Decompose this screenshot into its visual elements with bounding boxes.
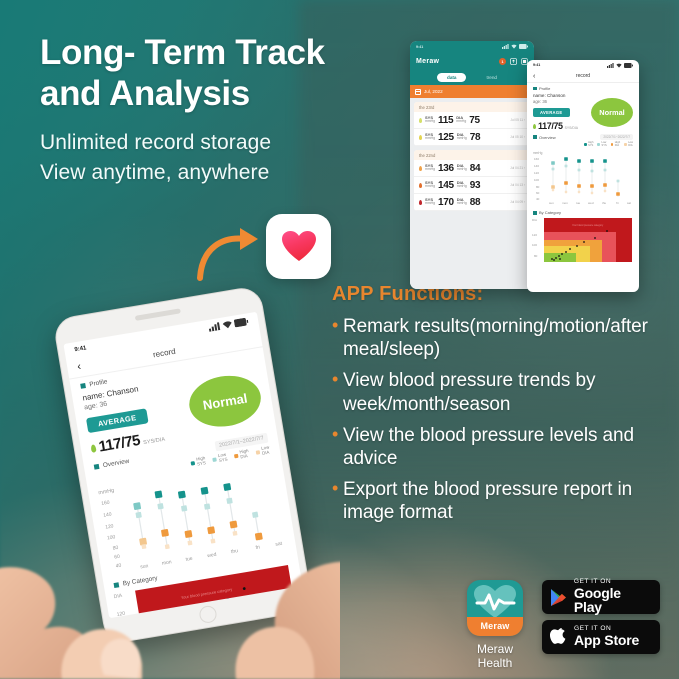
day-label: the 22nd xyxy=(414,150,530,160)
sys-label: SYSmmHg xyxy=(425,116,435,124)
svg-text:fri: fri xyxy=(616,201,619,205)
meraw-app-icon[interactable]: Meraw xyxy=(467,580,523,636)
table-row[interactable]: SYSmmHg 170 DIAmmHg 88 Jul 04 09 › xyxy=(414,194,530,211)
records-group: the 22nd SYSmmHg 136 DIAmmHg 84 Jul 04 2… xyxy=(414,150,530,211)
app-icon-label: Meraw xyxy=(480,621,509,631)
bullet-icon: • xyxy=(332,424,343,470)
bullet-icon: • xyxy=(332,369,343,415)
record-timestamp: Jul 04 09 › xyxy=(510,200,525,204)
tab-trend[interactable]: trend xyxy=(476,73,506,82)
badge-big-label: App Store xyxy=(574,633,639,648)
profile-details: name: Chanson age: 36 AVERAGE 117/75 SYS… xyxy=(533,93,591,131)
svg-text:tue: tue xyxy=(576,201,581,205)
svg-text:tue: tue xyxy=(185,556,193,563)
status-badge: Normal xyxy=(185,371,264,432)
dia-value: 93 xyxy=(470,180,481,191)
svg-text:40: 40 xyxy=(115,563,122,570)
patient-name: name: Chanson xyxy=(533,93,591,98)
sys-value: 170 xyxy=(438,197,454,208)
table-row[interactable]: SYSmmHg 145 DIAmmHg 93 Jul 04 13 › xyxy=(414,177,530,194)
svg-text:100: 100 xyxy=(534,178,539,182)
calendar-icon xyxy=(415,89,421,95)
dia-value: 88 xyxy=(470,197,481,208)
section-marker-icon xyxy=(533,211,537,215)
svg-text:60: 60 xyxy=(536,191,540,195)
chart-points xyxy=(551,158,620,198)
bp-unit: SYS/DIA xyxy=(565,126,578,130)
sys-value: 145 xyxy=(438,180,454,191)
status-indicators xyxy=(502,44,528,49)
records-list[interactable]: the 23rd SYSmmHg 115 DIAmmHg 75 Jul 05 1… xyxy=(410,98,534,289)
dia-label: DIAmmHg xyxy=(457,164,467,172)
section-header-overview: Overview 2022/7/1~2022/7/7 xyxy=(527,131,639,140)
function-list-item: • Export the blood pressure report in im… xyxy=(332,478,662,524)
app-brand-label: Meraw xyxy=(416,58,439,65)
section-marker-icon xyxy=(533,87,537,91)
wifi-icon xyxy=(511,44,517,49)
svg-text:mon: mon xyxy=(162,559,173,567)
svg-text:80: 80 xyxy=(536,185,540,189)
curved-arrow-icon xyxy=(196,222,266,282)
google-play-text: GET IT ON Google Play xyxy=(574,579,652,615)
status-time: 9:41 xyxy=(416,45,423,49)
section-marker-icon xyxy=(533,135,537,139)
table-row[interactable]: SYSmmHg 125 DIAmmHg 78 Jul 05 10 › xyxy=(414,129,530,146)
month-selector-left: Jul, 2022 xyxy=(415,89,443,95)
month-selector-bar[interactable]: Jul, 2022 ▾ xyxy=(410,85,534,98)
footer-badges: Meraw Meraw Health GET IT ON Google Play… xyxy=(462,578,672,668)
section-title: Profile xyxy=(539,86,550,91)
svg-text:fri: fri xyxy=(255,545,260,552)
app-bar: Meraw 1 xyxy=(410,52,534,71)
svg-text:80: 80 xyxy=(534,254,538,258)
level-indicator-icon xyxy=(419,118,422,123)
records-group: the 23rd SYSmmHg 115 DIAmmHg 75 Jul 05 1… xyxy=(414,102,530,146)
category-chart: DIA 120 100 80 Your blood pressure categ… xyxy=(527,215,639,263)
svg-text:60: 60 xyxy=(114,554,121,561)
nav-bar: ‹ record xyxy=(527,70,639,83)
function-list-item: • View blood pressure trends by week/mon… xyxy=(332,369,662,415)
signal-icon xyxy=(208,322,221,332)
status-indicators xyxy=(607,63,633,68)
average-badge: AVERAGE xyxy=(533,108,570,117)
svg-text:sun: sun xyxy=(140,563,149,570)
battery-icon xyxy=(234,317,249,327)
svg-text:160: 160 xyxy=(101,500,110,507)
phone-screenshot-data-list: 9:41 Meraw 1 xyxy=(410,41,534,289)
level-indicator-icon xyxy=(419,135,422,140)
signal-icon xyxy=(502,44,509,49)
sys-label: SYSmmHg xyxy=(425,164,435,172)
chart-legend: HighSYS LowSYS HighDIA LowDIA xyxy=(527,140,639,147)
app-bar-actions: 1 xyxy=(499,58,528,65)
svg-text:120: 120 xyxy=(105,524,114,531)
function-item-text: View the blood pressure levels and advic… xyxy=(343,424,662,470)
tab-data[interactable]: data xyxy=(437,73,466,82)
legend-item-low-dia: LowDIA xyxy=(624,142,633,147)
svg-text:100: 100 xyxy=(107,534,116,541)
date-range-label: 2022/7/1~2022/7/7 xyxy=(600,134,633,140)
svg-text:160: 160 xyxy=(534,157,539,161)
legend-swatch-icon xyxy=(256,450,261,455)
svg-text:wed: wed xyxy=(207,552,217,559)
legend-swatch-icon xyxy=(597,143,600,146)
bullet-icon: • xyxy=(332,478,343,524)
battery-icon xyxy=(624,63,633,68)
sys-label: SYSmmHg xyxy=(425,181,435,189)
svg-text:sun: sun xyxy=(549,201,554,205)
wifi-icon xyxy=(616,63,622,68)
legend-swatch-icon xyxy=(234,453,239,458)
headline-block: Long- Term Track and Analysis Unlimited … xyxy=(40,33,400,188)
share-icon[interactable] xyxy=(510,58,517,65)
level-indicator-icon xyxy=(419,183,422,188)
table-row[interactable]: SYSmmHg 115 DIAmmHg 75 Jul 05 11 › xyxy=(414,112,530,129)
app-store-text: GET IT ON App Store xyxy=(574,626,639,648)
function-item-text: Remark results(morning/motion/after meal… xyxy=(343,315,662,361)
category-chart-svg: DIA 120 100 80 Your blood pressure categ… xyxy=(532,216,634,262)
dia-value: 78 xyxy=(470,132,481,143)
overview-chart-svg: mmHg 160140 120100 8060 40 xyxy=(531,148,635,206)
chart-points xyxy=(132,475,263,560)
blood-drop-icon xyxy=(90,444,96,453)
dia-value: 84 xyxy=(470,163,481,174)
svg-text:thu: thu xyxy=(602,201,607,205)
dia-label: DIAmmHg xyxy=(457,133,467,141)
category-axis-label: DIA xyxy=(532,218,537,222)
subheadline-line-1: Unlimited record storage xyxy=(40,128,400,158)
phone-screenshot-record: 9:41 ‹ record Profile name: Chanson age:… xyxy=(527,60,639,292)
health-app-card[interactable] xyxy=(266,214,331,279)
tab-bar: data trend xyxy=(410,71,534,85)
record-timestamp: Jul 05 11 › xyxy=(510,118,525,122)
app-name-label: Meraw Health xyxy=(467,642,523,670)
battery-icon xyxy=(519,44,528,49)
headline-line-1: Long- Term Track xyxy=(40,33,400,74)
level-indicator-icon xyxy=(419,166,422,171)
legend-swatch-icon xyxy=(624,143,627,146)
badge-big-label: Google Play xyxy=(574,586,652,615)
section-title: Overview xyxy=(539,135,556,140)
section-title: By Category xyxy=(539,210,561,215)
chart-yticks: 160140120 100806040 xyxy=(101,500,122,571)
sys-value: 125 xyxy=(438,132,454,143)
legend-item-high-sys: HighSYS xyxy=(584,142,593,147)
day-label: the 23rd xyxy=(414,102,530,112)
bp-value: 117/75 xyxy=(538,121,563,131)
signal-icon xyxy=(607,63,614,68)
notification-badge-icon[interactable]: 1 xyxy=(499,58,506,65)
dia-label: DIAmmHg xyxy=(457,181,467,189)
legend-item-high-dia: HighDIA xyxy=(611,142,620,147)
status-bar: 9:41 xyxy=(410,41,534,52)
sys-value: 136 xyxy=(438,163,454,174)
sys-label: SYSmmHg xyxy=(425,198,435,206)
app-functions-block: APP Functions: • Remark results(morning/… xyxy=(332,283,662,532)
blood-drop-icon xyxy=(533,124,536,129)
svg-text:100: 100 xyxy=(532,243,537,247)
status-time: 9:41 xyxy=(533,63,540,67)
overview-chart: mmHg 160140 120100 8060 40 xyxy=(527,147,639,207)
chart-xticks: sunmontue wedthufri sat xyxy=(549,201,631,205)
record-timestamp: Jul 04 21 › xyxy=(510,166,525,170)
svg-text:120: 120 xyxy=(534,171,539,175)
svg-text:40: 40 xyxy=(536,197,540,201)
section-header-category: By Category xyxy=(527,207,639,215)
google-play-icon xyxy=(550,588,567,607)
category-note: Your blood pressure category xyxy=(572,224,604,227)
svg-text:120: 120 xyxy=(532,233,537,237)
section-marker-icon xyxy=(94,463,100,469)
dia-label: DIAmmHg xyxy=(456,116,466,124)
record-timestamp: Jul 05 10 › xyxy=(510,135,525,139)
legend-swatch-icon xyxy=(611,143,614,146)
dia-label: DIAmmHg xyxy=(457,198,467,206)
status-time: 9:41 xyxy=(74,345,87,353)
section-marker-icon xyxy=(114,583,120,589)
function-list-item: • Remark results(morning/motion/after me… xyxy=(332,315,662,361)
chart-ylabel: mmHg xyxy=(533,151,543,155)
apple-logo-icon xyxy=(550,627,567,647)
sys-value: 115 xyxy=(438,115,453,126)
svg-text:140: 140 xyxy=(103,512,112,519)
app-store-badge[interactable]: GET IT ON App Store xyxy=(542,620,660,654)
headline-line-2: and Analysis xyxy=(40,74,400,115)
legend-item-low-sys: LowSYS xyxy=(597,142,606,147)
average-badge: AVERAGE xyxy=(86,408,148,433)
section-header-profile: Profile xyxy=(527,83,639,92)
status-bar: 9:41 xyxy=(527,60,639,70)
bp-reading: 117/75 SYS/DIA xyxy=(533,121,591,131)
category-axis-label: DIA xyxy=(113,593,123,600)
svg-text:sat: sat xyxy=(275,541,283,548)
month-label: Jul, 2022 xyxy=(424,89,443,94)
chart-yticks: 160140 120100 8060 40 xyxy=(534,157,540,201)
svg-text:thu: thu xyxy=(231,548,239,555)
google-play-badge[interactable]: GET IT ON Google Play xyxy=(542,580,660,614)
table-row[interactable]: SYSmmHg 136 DIAmmHg 84 Jul 04 21 › xyxy=(414,160,530,177)
function-item-text: View blood pressure trends by week/month… xyxy=(343,369,662,415)
wifi-icon xyxy=(222,320,233,330)
patient-age: age: 36 xyxy=(533,99,591,104)
level-indicator-icon xyxy=(419,200,422,205)
section-marker-icon xyxy=(80,383,86,389)
svg-text:sat: sat xyxy=(627,201,631,205)
function-list-item: • View the blood pressure levels and adv… xyxy=(332,424,662,470)
legend-swatch-icon xyxy=(584,143,587,146)
svg-text:wed: wed xyxy=(588,201,594,205)
svg-text:80: 80 xyxy=(112,545,119,552)
record-timestamp: Jul 04 13 › xyxy=(510,183,525,187)
bp-unit: SYS/DIA xyxy=(143,437,166,447)
svg-text:140: 140 xyxy=(534,164,539,168)
chart-ylabel: mmHg xyxy=(98,488,115,497)
page-title: record xyxy=(527,73,639,79)
sys-label: SYSmmHg xyxy=(425,133,435,141)
svg-text:mon: mon xyxy=(562,201,568,205)
app-icon-block: Meraw Meraw Health xyxy=(467,580,523,670)
legend-swatch-icon xyxy=(191,461,196,466)
status-badge: Normal xyxy=(591,98,633,127)
bullet-icon: • xyxy=(332,315,343,361)
heart-icon xyxy=(282,231,316,262)
app-icon-label-band: Meraw xyxy=(467,617,523,636)
profile-card: name: Chanson age: 36 AVERAGE 117/75 SYS… xyxy=(527,92,639,131)
dia-value: 75 xyxy=(469,115,480,126)
subheadline-line-2: View anytime, anywhere xyxy=(40,158,400,188)
legend-swatch-icon xyxy=(212,457,217,462)
function-item-text: Export the blood pressure report in imag… xyxy=(343,478,662,524)
